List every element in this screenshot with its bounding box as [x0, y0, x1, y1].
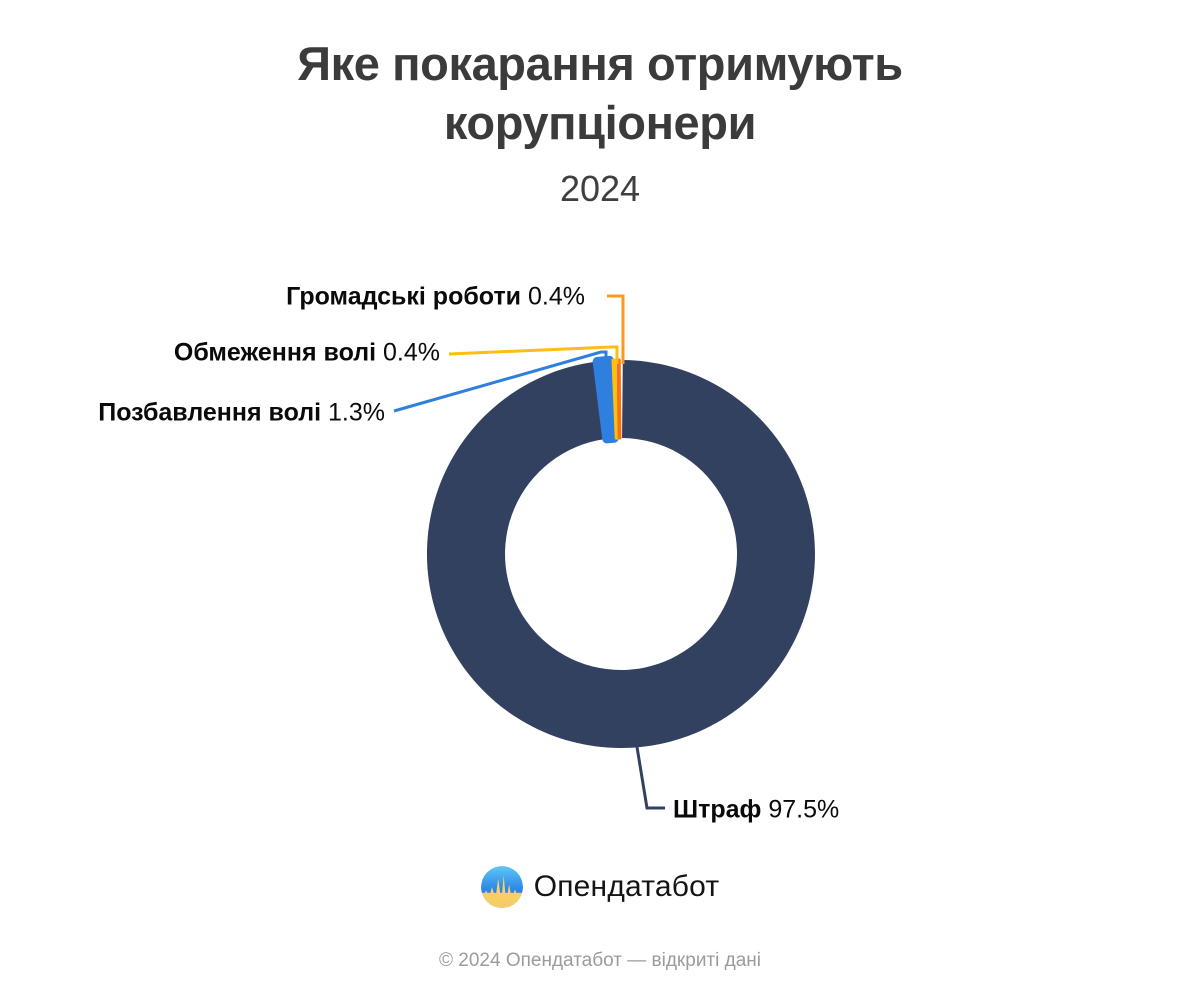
donut-slice-public-works[interactable] — [618, 360, 620, 438]
callout-label-fine: Штраф 97.5% — [673, 798, 839, 823]
callout-category-imprisonment: Позбавлення волі — [98, 399, 321, 427]
footer-copyright: © 2024 Опендатабот — відкриті дані — [0, 950, 1200, 972]
brand-name: Опендатабот — [534, 870, 720, 904]
callout-value-fine: 97.5% — [768, 796, 839, 824]
brand-block: Опендатабот — [0, 866, 1200, 908]
leader-line-fine — [637, 747, 665, 808]
callout-label-public-works: Громадські роботи 0.4% — [286, 285, 585, 310]
callout-value-imprisonment: 1.3% — [328, 399, 385, 427]
title-block: Яке покарання отримують корупціонери 202… — [0, 34, 1200, 210]
callout-category-restriction: Обмеження волі — [174, 339, 376, 367]
chart-subtitle: 2024 — [0, 168, 1200, 210]
callout-label-imprisonment: Позбавлення волі 1.3% — [98, 401, 385, 426]
callout-value-public-works: 0.4% — [528, 283, 585, 311]
callout-label-restriction: Обмеження волі 0.4% — [174, 341, 440, 366]
callout-category-fine: Штраф — [673, 796, 761, 824]
opendatabot-logo-icon — [481, 866, 523, 908]
callout-value-restriction: 0.4% — [383, 339, 440, 367]
page-title: Яке покарання отримують корупціонери — [260, 34, 940, 152]
leader-line-public-works — [607, 296, 623, 364]
callout-category-public-works: Громадські роботи — [286, 283, 521, 311]
